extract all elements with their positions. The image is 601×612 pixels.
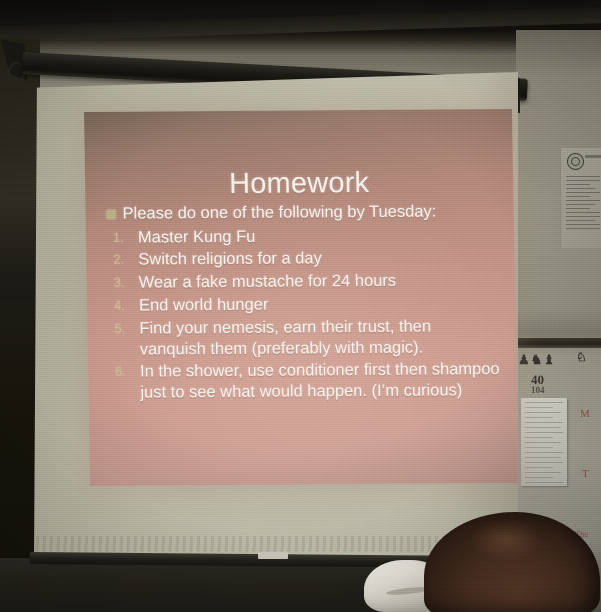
list-item: Switch religions for a day <box>107 247 500 271</box>
slide-numbered-list: Master Kung Fu Switch religions for a da… <box>107 225 503 404</box>
slide-title: Homework <box>85 166 514 202</box>
poster-heading-line <box>585 155 601 158</box>
list-item: Wear a fake mustache for 24 hours <box>108 270 501 294</box>
projected-slide: Homework Please do one of the following … <box>84 109 518 486</box>
list-item: End world hunger <box>108 293 501 317</box>
seal-icon <box>567 153 584 170</box>
list-item: Master Kung Fu <box>107 225 500 249</box>
poster-text-lines <box>566 176 600 232</box>
board-red-note-1: M <box>580 408 590 420</box>
list-item: In the shower, use conditioner first the… <box>109 359 503 403</box>
classroom-photo: ♟♞♝ 40 104 ♟ ♘ M T Due Thu Homework Plea… <box>0 0 601 612</box>
slide-lead-bullet-row: Please do one of the following by Tuesda… <box>106 201 499 224</box>
list-item: Find your nemesis, earn their trust, the… <box>108 316 502 360</box>
board-posted-paper <box>521 398 567 486</box>
square-bullet-icon <box>107 210 116 219</box>
wall-poster <box>560 148 601 248</box>
board-symbol-1: ♟♞♝ <box>518 352 556 368</box>
board-chalk-rail <box>516 338 601 348</box>
slide-body: Please do one of the following by Tuesda… <box>106 201 502 406</box>
board-number-small: 104 <box>531 385 545 395</box>
screen-pull-tab[interactable] <box>258 552 288 559</box>
slide-lead-text: Please do one of the following by Tuesda… <box>122 202 436 225</box>
board-symbol-3: ♘ <box>576 350 588 365</box>
board-red-note-2: T <box>582 468 589 480</box>
